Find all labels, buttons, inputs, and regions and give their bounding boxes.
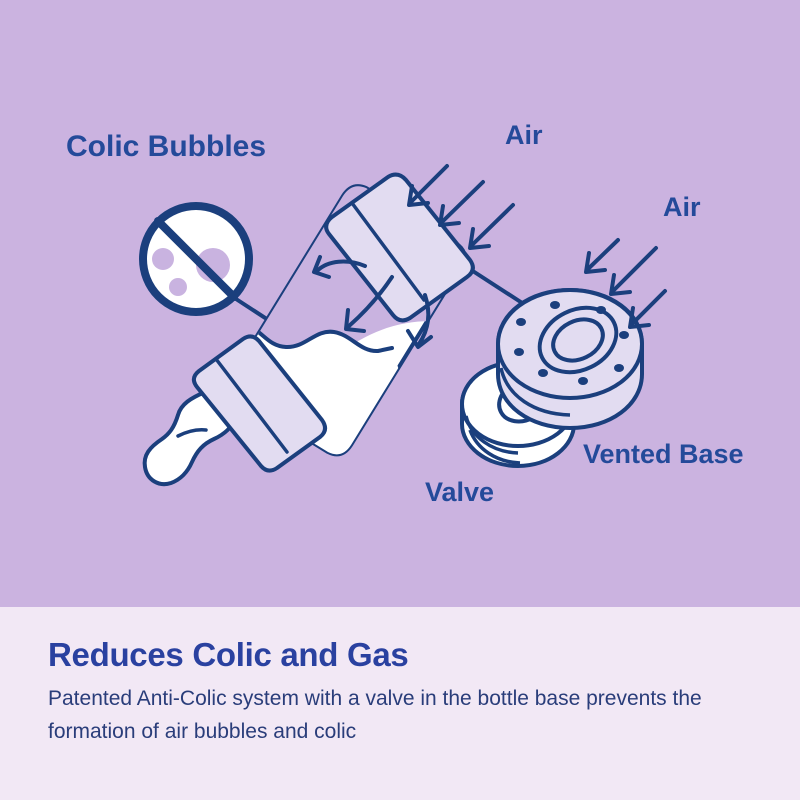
caption-body: Patented Anti-Colic system with a valve … [48,683,752,748]
anti-colic-diagram [0,0,800,607]
vented-base-illustration [498,290,642,428]
no-bubbles-contents [138,229,254,320]
bubble-1 [152,248,174,270]
label-colic-bubbles: Colic Bubbles [66,130,266,164]
no-bubbles-icon [138,206,254,320]
illustration-panel: Colic Bubbles Air Air Valve Vented Base [0,0,800,607]
caption-panel: Reduces Colic and Gas Patented Anti-Coli… [0,607,800,800]
label-valve: Valve [425,477,494,508]
air-arrow-right-3 [630,291,665,327]
label-air-left: Air [505,120,543,151]
product-feature-graphic: Colic Bubbles Air Air Valve Vented Base … [0,0,800,800]
bubble-3 [169,278,187,296]
label-vented-base: Vented Base [583,439,744,470]
air-arrow-left-1 [409,166,447,205]
air-arrow-left-2 [440,182,483,225]
air-arrow-right-2 [611,248,656,294]
air-arrow-left-3 [470,205,513,248]
caption-title: Reduces Colic and Gas [48,637,752,673]
label-air-right: Air [663,192,701,223]
air-arrow-right-1 [586,240,618,272]
